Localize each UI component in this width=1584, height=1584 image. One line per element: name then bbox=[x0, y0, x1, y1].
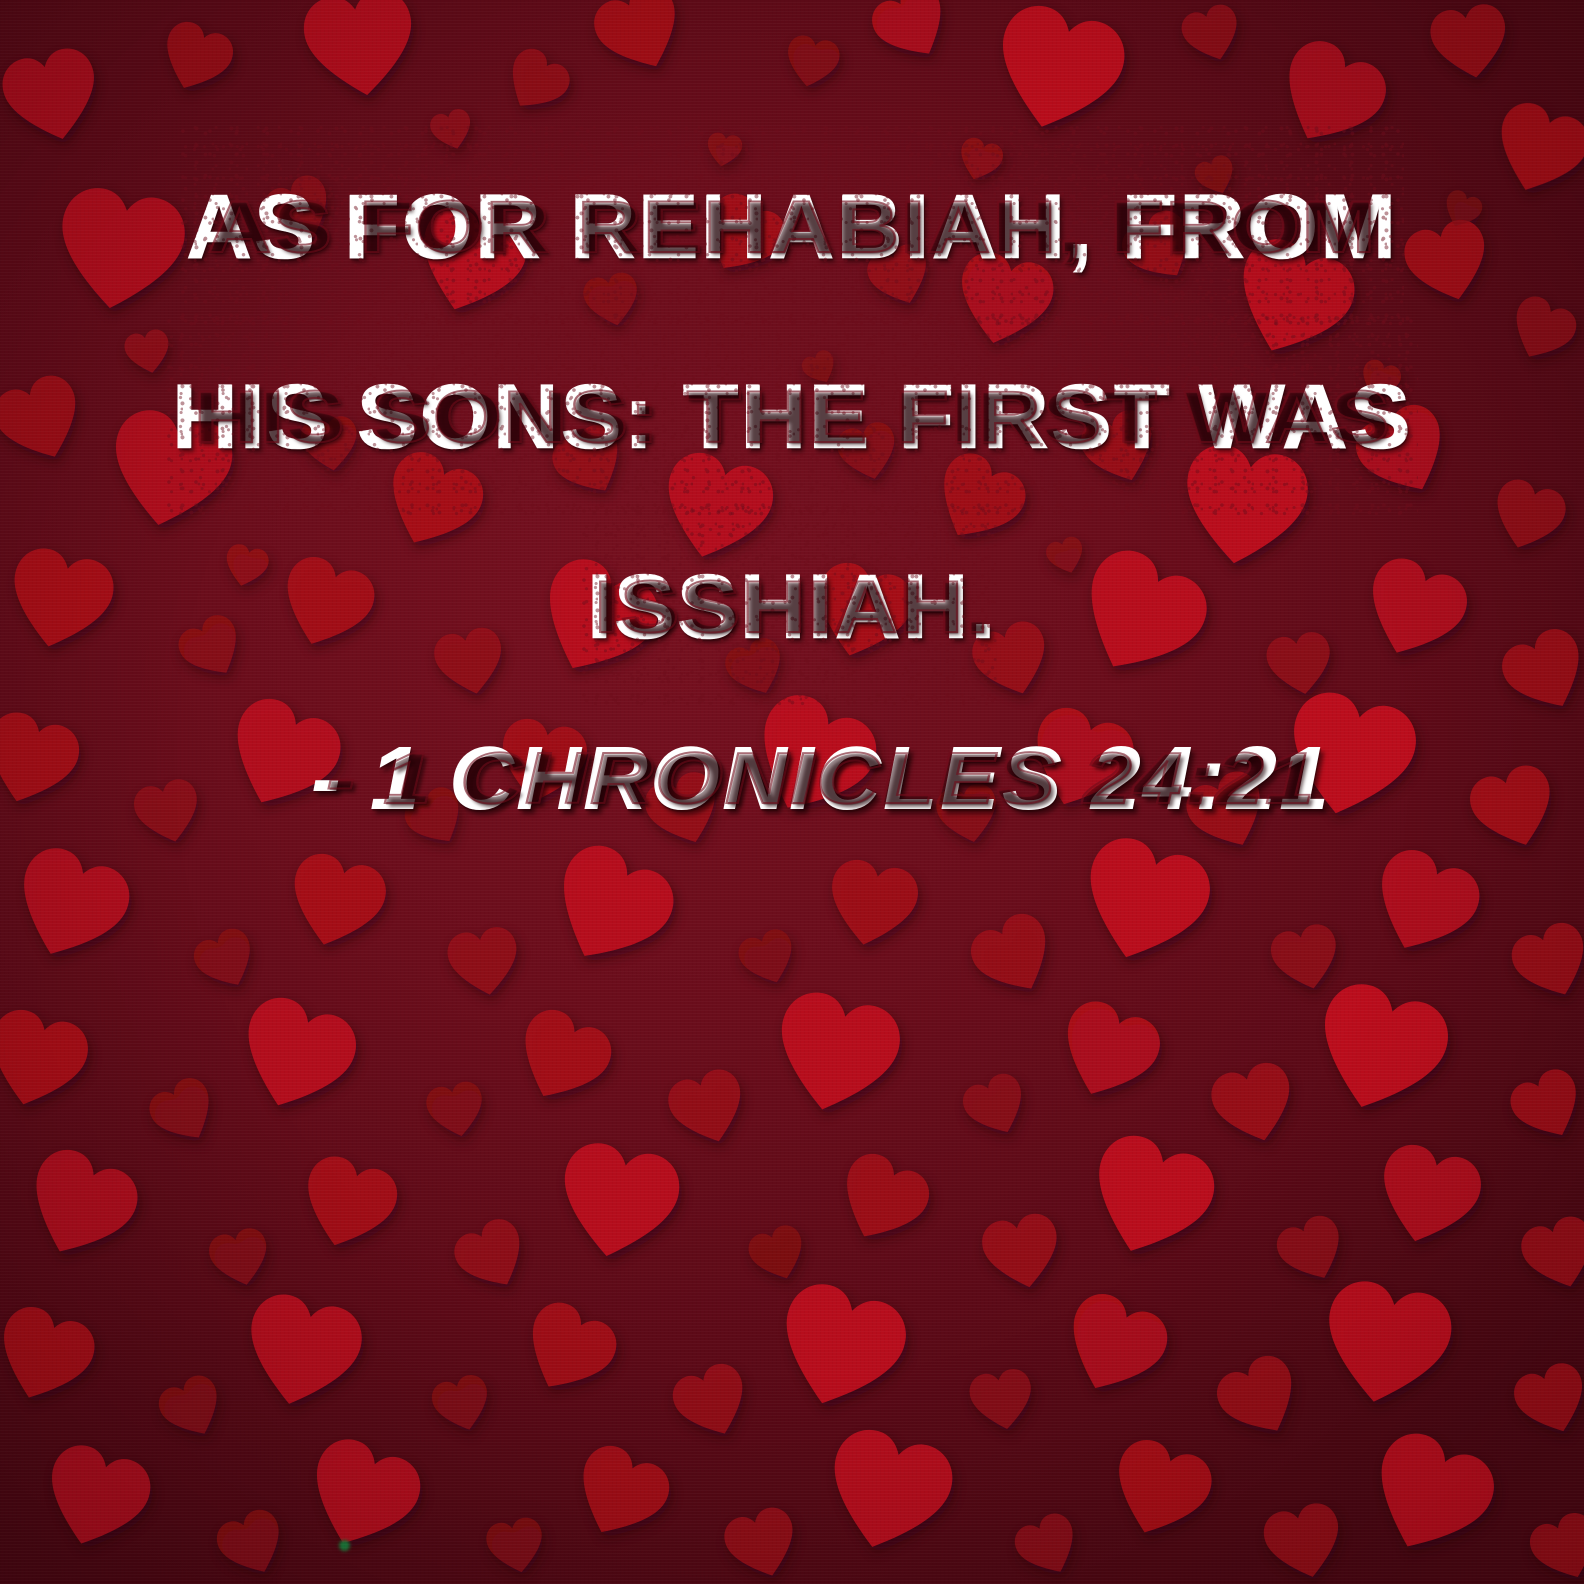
heart-confetti-piece bbox=[815, 1422, 961, 1563]
heart-confetti-piece bbox=[1504, 1063, 1584, 1150]
heart-confetti-piece bbox=[744, 1221, 812, 1287]
scripture-reference: - 1 CHRONICLES 24:21 bbox=[311, 726, 1331, 832]
heart-confetti-piece bbox=[292, 1150, 404, 1259]
heart-confetti-piece bbox=[550, 1137, 685, 1268]
verse-line-1-glyphs: AS FOR REHABIAH, FROM bbox=[186, 132, 1398, 322]
heart-confetti-piece bbox=[963, 906, 1065, 1006]
citation-block: - 1 CHRONICLES 24:21 bbox=[0, 726, 1584, 832]
heart-confetti-piece bbox=[1100, 1432, 1219, 1548]
heart-confetti-piece bbox=[300, 0, 421, 103]
heart-confetti-piece bbox=[1259, 1499, 1349, 1584]
heart-confetti-piece bbox=[1047, 993, 1168, 1111]
heart-confetti-piece bbox=[967, 1366, 1038, 1434]
heart-confetti-piece bbox=[1524, 1507, 1584, 1584]
heart-confetti-piece bbox=[1177, 1, 1246, 68]
heart-confetti-piece bbox=[188, 923, 264, 997]
heart-confetti-piece bbox=[423, 1079, 488, 1142]
heart-confetti-piece bbox=[1427, 1, 1513, 84]
heart-confetti-piece bbox=[227, 989, 365, 1124]
heart-confetti-piece bbox=[663, 1064, 754, 1152]
heart-confetti-piece bbox=[1516, 1211, 1584, 1297]
heart-confetti-piece bbox=[235, 1288, 369, 1417]
heart-confetti-piece bbox=[448, 1212, 537, 1300]
heart-confetti-piece bbox=[444, 924, 523, 1001]
heart-confetti-piece bbox=[504, 1001, 620, 1115]
heart-confetti-piece bbox=[280, 848, 393, 957]
heart-confetti-piece bbox=[535, 835, 685, 983]
heart-confetti-piece bbox=[821, 855, 923, 953]
heart-confetti-piece bbox=[1508, 1358, 1584, 1443]
heart-confetti-piece bbox=[211, 1504, 293, 1584]
heart-confetti-piece bbox=[764, 985, 907, 1123]
heart-confetti-piece bbox=[1314, 1275, 1458, 1414]
verse-image-canvas: AS FOR REHABIAH, FROM HIS SONS: THE FIRS… bbox=[0, 0, 1584, 1584]
heart-confetti-piece bbox=[1076, 1126, 1224, 1270]
heart-confetti-piece bbox=[153, 16, 239, 100]
heart-confetti-piece bbox=[1206, 1058, 1302, 1151]
heart-confetti-piece bbox=[1368, 1138, 1488, 1254]
heart-confetti-piece bbox=[734, 925, 802, 991]
heart-confetti-piece bbox=[1209, 1348, 1311, 1448]
heart-confetti-piece bbox=[667, 1358, 758, 1447]
heart-confetti-piece bbox=[865, 0, 960, 71]
heart-confetti-piece bbox=[781, 33, 842, 92]
verse-line-1: AS FOR REHABIAH, FROM bbox=[0, 132, 1584, 322]
verse-line-2-glyphs: HIS SONS: THE FIRST WAS bbox=[172, 322, 1413, 512]
heart-confetti-piece bbox=[1359, 841, 1489, 968]
heart-confetti-piece bbox=[153, 1370, 231, 1447]
heart-confetti-piece bbox=[983, 0, 1133, 144]
heart-confetti-piece bbox=[0, 1004, 95, 1118]
heart-confetti-piece bbox=[587, 0, 694, 83]
heart-confetti-piece bbox=[483, 1515, 548, 1578]
heart-confetti-piece bbox=[957, 1068, 1034, 1144]
heart-confetti-piece bbox=[1271, 1210, 1353, 1291]
heart-confetti-piece bbox=[1009, 1508, 1087, 1584]
heart-confetti-piece bbox=[1267, 920, 1345, 996]
verse-line-2: HIS SONS: THE FIRST WAS bbox=[0, 322, 1584, 512]
heart-confetti-piece bbox=[978, 1210, 1066, 1295]
heart-confetti-piece bbox=[1069, 829, 1219, 975]
heart-confetti-piece bbox=[428, 1371, 496, 1437]
heart-confetti-piece bbox=[826, 1146, 937, 1255]
heart-confetti-piece bbox=[34, 1438, 158, 1559]
heart-confetti-piece bbox=[12, 1141, 147, 1273]
verse-line-3: ISSHIAH. bbox=[0, 512, 1584, 702]
heart-confetti-piece bbox=[719, 1503, 805, 1584]
heart-confetti-piece bbox=[1051, 1285, 1176, 1407]
heart-confetti-piece bbox=[0, 1300, 102, 1414]
heart-confetti-piece bbox=[1505, 917, 1584, 1008]
verse-line-3-glyphs: ISSHIAH. bbox=[587, 512, 998, 702]
heart-confetti-piece bbox=[206, 1225, 275, 1292]
heart-confetti-piece bbox=[495, 42, 576, 122]
heart-confetti-piece bbox=[1302, 975, 1457, 1126]
heart-confetti-piece bbox=[1, 839, 139, 974]
heart-confetti-piece bbox=[143, 1072, 225, 1153]
heart-confetti-piece bbox=[1355, 1423, 1505, 1570]
green-speck bbox=[339, 1540, 350, 1551]
heart-confetti-piece bbox=[510, 1294, 625, 1407]
heart-confetti-piece bbox=[765, 1275, 915, 1421]
heart-confetti-piece bbox=[294, 1430, 429, 1562]
heart-confetti-piece bbox=[562, 1437, 678, 1551]
verse-text-block: AS FOR REHABIAH, FROM HIS SONS: THE FIRS… bbox=[0, 132, 1584, 702]
